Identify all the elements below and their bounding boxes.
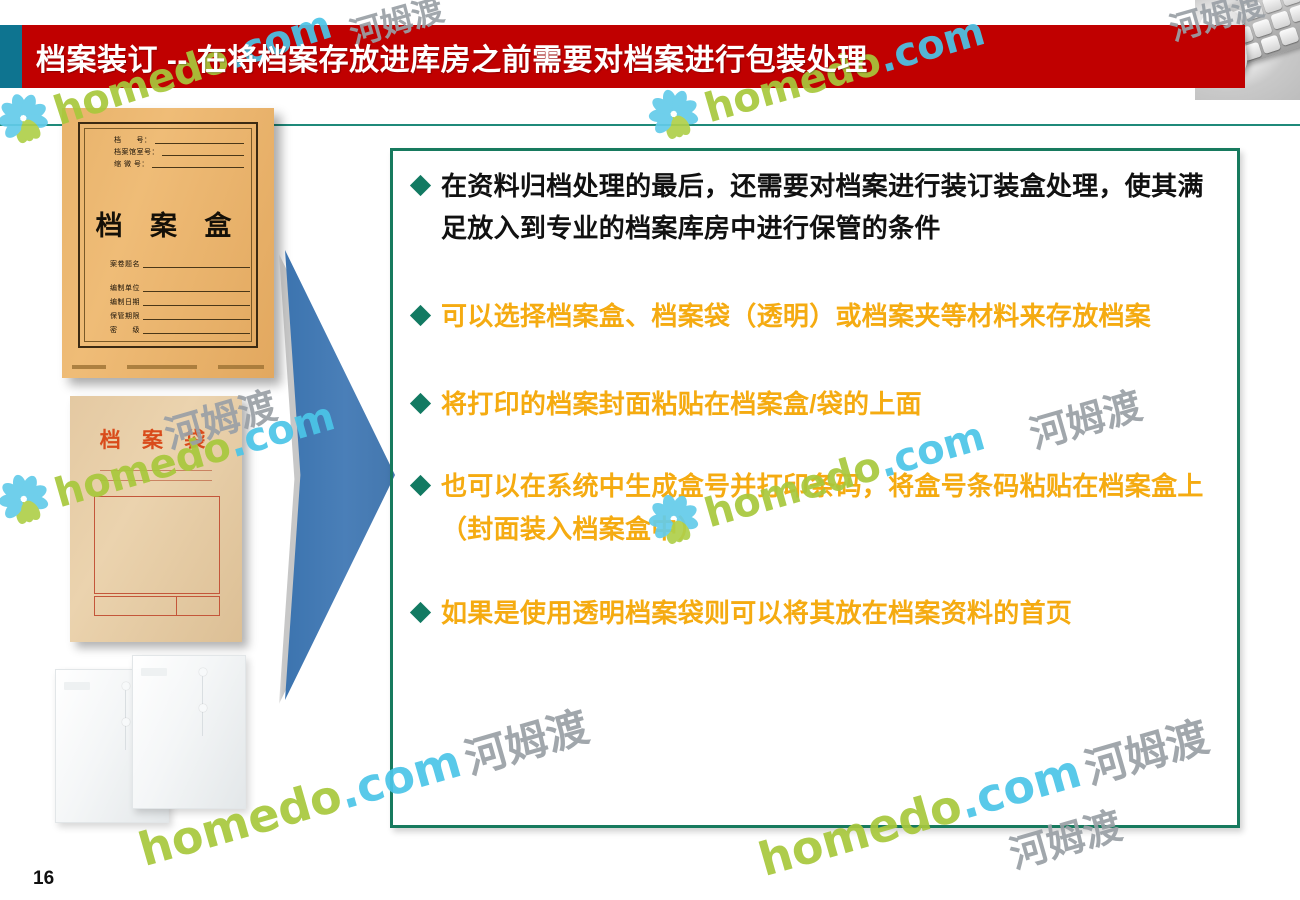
list-item: 可以选择档案盒、档案袋（透明）或档案夹等材料来存放档案 [407,295,1221,337]
field-label: 编制单位 [110,285,140,292]
field-line [162,148,244,156]
archive-bag-image: 档 案 袋 [70,396,242,642]
field-line [143,326,250,334]
archive-bag-table [94,496,220,594]
page-title: 档案装订 -- 在将档案存放进库房之前需要对档案进行包装处理 [36,25,868,88]
archive-box-footer-strip [72,364,264,370]
field-label: 密 级 [110,327,140,334]
field-label: 案卷题名 [110,261,140,268]
diamond-bullet-icon [410,475,431,496]
field-line [143,260,250,268]
archive-bag-footer [94,596,220,616]
field-label: 缩 微 号： [114,161,149,168]
field-label: 编制日期 [110,299,140,306]
diamond-bullet-icon [410,393,431,414]
homedo-flower-icon [642,82,709,155]
page-number: 16 [33,868,54,890]
field-label: 档案馆室号： [114,149,159,156]
folder-item [132,655,246,809]
list-item: 如果是使用透明档案袋则可以将其放在档案资料的首页 [407,592,1221,634]
bullet-text: 可以选择档案盒、档案袋（透明）或档案夹等材料来存放档案 [441,295,1221,337]
archive-box-bottom-fields: 案卷题名 编制单位 编制日期 保管期限 密 级 [110,260,250,340]
diamond-bullet-icon [410,602,431,623]
list-item: 也可以在系统中生成盒号并打印条码，将盒号条码粘贴在档案盒上（封面装入档案盒中） [407,465,1221,549]
list-item: 在资料归档处理的最后，还需要对档案进行装订装盒处理，使其满足放入到专业的档案库房… [407,165,1221,249]
bullet-text: 如果是使用透明档案袋则可以将其放在档案资料的首页 [441,592,1221,634]
bullet-text: 也可以在系统中生成盒号并打印条码，将盒号条码粘贴在档案盒上（封面装入档案盒中） [441,465,1221,549]
list-item: 将打印的档案封面粘贴在档案盒/袋的上面 [407,383,1221,425]
archive-box-top-fields: 档 号： 档案馆室号： 缩 微 号： [114,136,244,172]
banner-accent-block [0,25,22,88]
archive-bag-lines [100,470,212,490]
right-arrow [285,250,395,700]
field-line [152,160,244,168]
bullet-list: 在资料归档处理的最后，还需要对档案进行装订装盒处理，使其满足放入到专业的档案库房… [393,151,1237,825]
archive-box-image: 档 号： 档案馆室号： 缩 微 号： 档 案 盒 案卷题名 编制单位 编制日期 … [62,108,274,378]
bullet-text: 在资料归档处理的最后，还需要对档案进行装订装盒处理，使其满足放入到专业的档案库房… [441,165,1221,249]
slide-root: 档案装订 -- 在将档案存放进库房之前需要对档案进行包装处理 档 号： 档案馆室… [0,0,1300,900]
homedo-flower-icon [0,85,59,159]
field-label: 保管期限 [110,313,140,320]
diamond-bullet-icon [410,175,431,196]
field-label: 档 号： [114,137,152,144]
field-line [143,298,250,306]
bullet-text: 将打印的档案封面粘贴在档案盒/袋的上面 [441,383,1221,425]
field-line [155,136,245,144]
transparent-folders-image [55,655,270,835]
field-line [143,284,250,292]
field-line [143,312,250,320]
content-panel: 在资料归档处理的最后，还需要对档案进行装订装盒处理，使其满足放入到专业的档案库房… [390,148,1240,828]
diamond-bullet-icon [410,305,431,326]
homedo-flower-icon [0,467,58,540]
archive-bag-title: 档 案 袋 [70,424,242,454]
archive-box-title: 档 案 盒 [62,204,274,243]
arrow-shape-icon [285,250,395,700]
